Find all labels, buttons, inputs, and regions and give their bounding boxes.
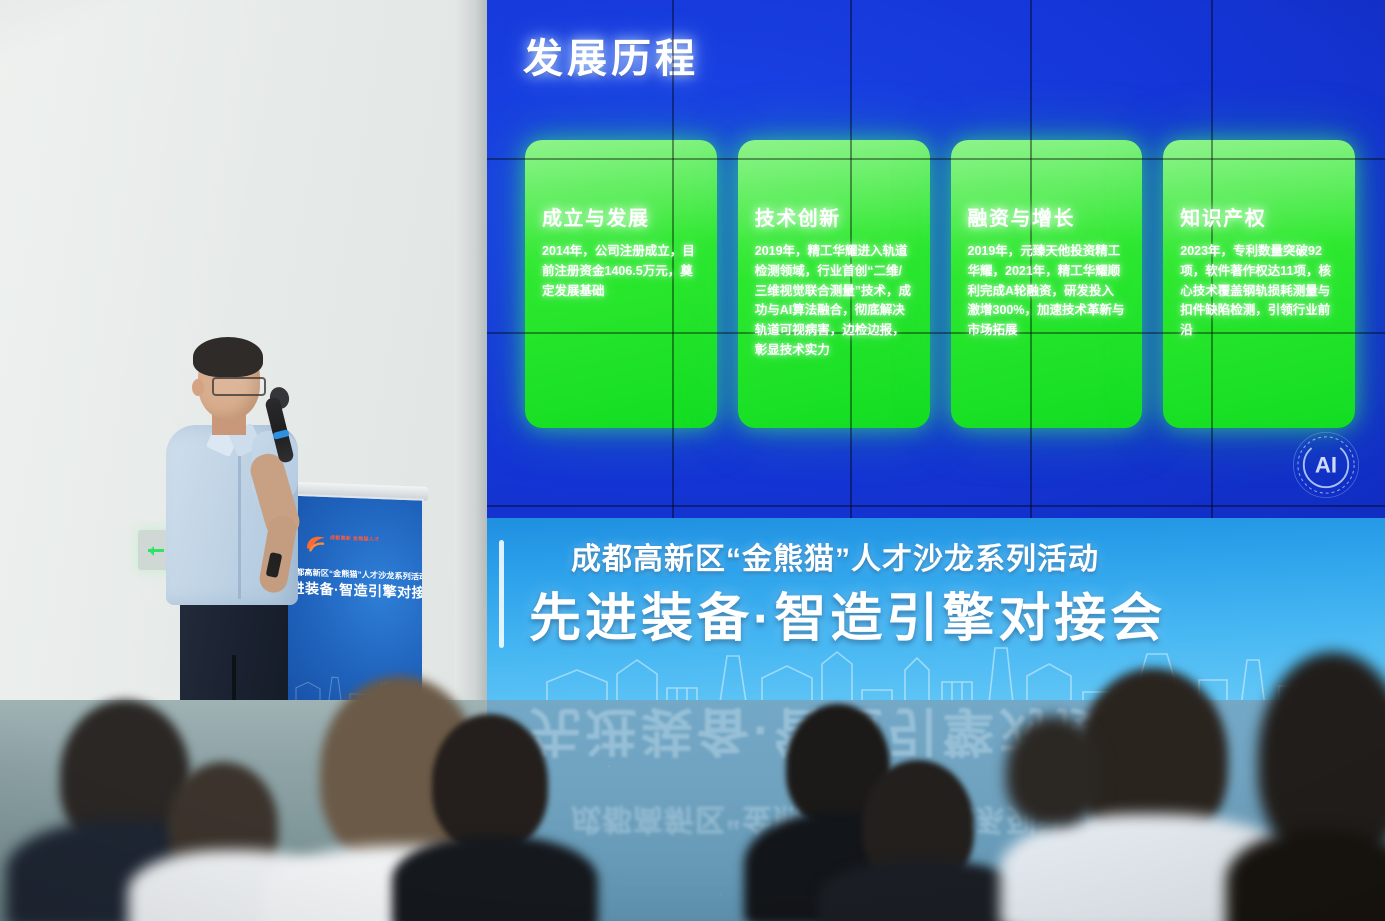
slide-card: 知识产权 2023年，专利数量突破92项，软件著作权达11项，核心技术覆盖钢轨损… <box>1163 140 1355 428</box>
audience-head <box>1006 716 1102 826</box>
card-body: 2019年，精工华耀进入轨道检测领域，行业首创“二维/三维视觉联合测量”技术，成… <box>755 242 913 361</box>
card-title: 融资与增长 <box>968 202 1126 231</box>
slide-card: 技术创新 2019年，精工华耀进入轨道检测领域，行业首创“二维/三维视觉联合测量… <box>738 140 930 428</box>
audience-shoulders <box>818 860 1028 921</box>
card-body: 2019年，元臻天他投资精工华耀，2021年，精工华耀顺利完成A轮融资，研发投入… <box>968 242 1126 341</box>
audience-shoulders <box>392 836 598 921</box>
card-body: 2014年，公司注册成立，目前注册资金1406.5万元，奠定发展基础 <box>542 242 700 301</box>
card-title: 知识产权 <box>1180 202 1338 231</box>
eyeglasses-icon <box>212 377 266 396</box>
presenter-hair <box>193 337 263 377</box>
ai-logo-icon: AI <box>1289 428 1363 502</box>
event-banner: 成都高新区“金熊猫”人才沙龙系列活动 先进装备·智造引擎对接会 <box>487 518 1385 728</box>
audience-head <box>432 714 548 850</box>
panel-seam <box>487 158 1385 160</box>
wall-edge-column <box>455 0 491 700</box>
card-body: 2023年，专利数量突破92项，软件著作权达11项，核心技术覆盖钢轨损耗测量与扣… <box>1180 242 1338 341</box>
led-video-wall: 发展历程 成立与发展 2014年，公司注册成立，目前注册资金1406.5万元，奠… <box>487 0 1385 524</box>
presenter-ear <box>192 379 204 396</box>
presenter-shirt-placket <box>238 439 241 599</box>
slide-card-row: 成立与发展 2014年，公司注册成立，目前注册资金1406.5万元，奠定发展基础… <box>525 140 1355 428</box>
panel-seam <box>487 505 1385 507</box>
banner-subtitle: 成都高新区“金熊猫”人才沙龙系列活动 <box>571 534 1371 578</box>
card-title: 成立与发展 <box>542 202 700 231</box>
presentation-photo-scene: 发展历程 成立与发展 2014年，公司注册成立，目前注册资金1406.5万元，奠… <box>0 0 1385 921</box>
card-title: 技术创新 <box>755 202 913 231</box>
svg-text:AI: AI <box>1315 452 1337 477</box>
slide-card: 成立与发展 2014年，公司注册成立，目前注册资金1406.5万元，奠定发展基础 <box>525 140 717 428</box>
slide-card: 融资与增长 2019年，元臻天他投资精工华耀，2021年，精工华耀顺利完成A轮融… <box>951 140 1143 428</box>
